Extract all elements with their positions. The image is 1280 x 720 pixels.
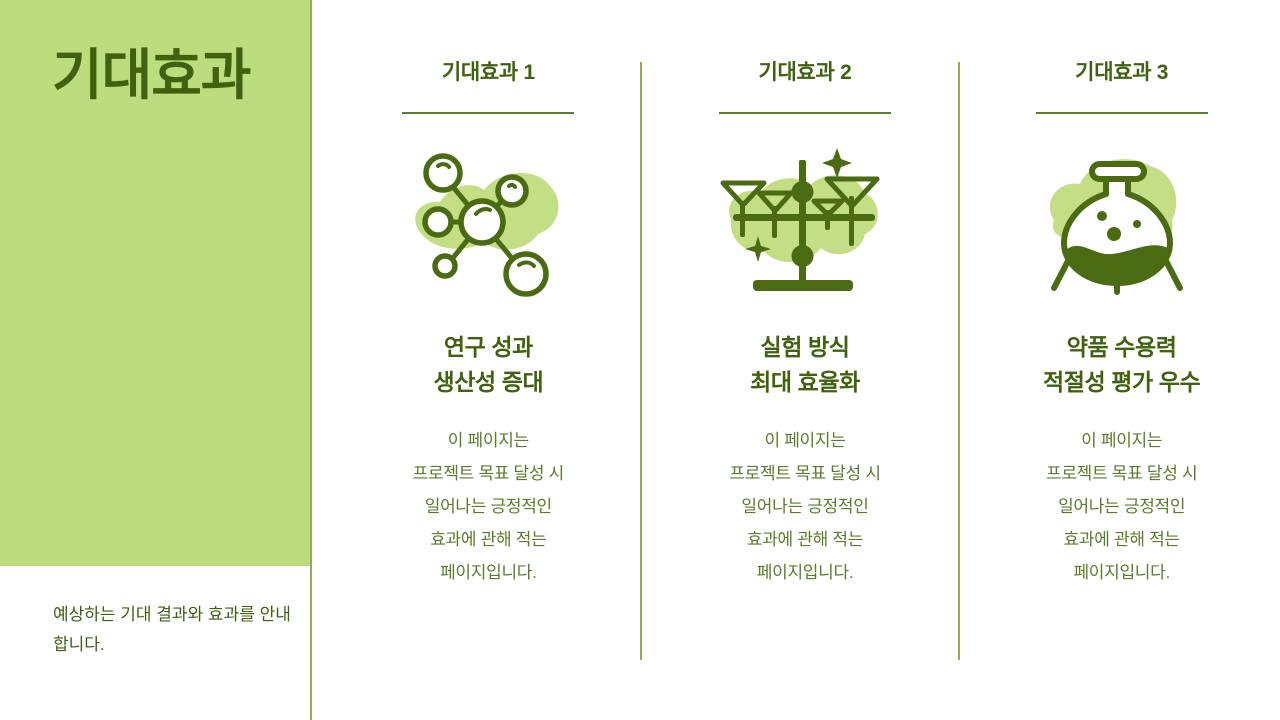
column-1-body: 이 페이지는 프로젝트 목표 달성 시 일어나는 긍정적인 효과에 관해 적는 … xyxy=(413,424,564,590)
column-2-heading: 실험 방식 최대 효율화 xyxy=(750,330,860,400)
column-3-rule xyxy=(1036,112,1208,114)
column-1-header: 기대효과 1 xyxy=(442,62,535,83)
column-1-rule xyxy=(402,112,574,114)
column-3-body: 이 페이지는 프로젝트 목표 달성 시 일어나는 긍정적인 효과에 관해 적는 … xyxy=(1046,424,1197,590)
column-1: 기대효과 1 xyxy=(330,0,647,720)
column-2-rule xyxy=(719,112,891,114)
column-3-header: 기대효과 3 xyxy=(1075,62,1168,83)
molecule-network-icon xyxy=(398,142,578,302)
flask-tripod-icon xyxy=(1032,142,1212,302)
column-2-header: 기대효과 2 xyxy=(759,62,852,83)
funnel-stand-icon xyxy=(715,142,895,302)
columns-container: 기대효과 1 xyxy=(330,0,1280,720)
column-3: 기대효과 3 xyxy=(963,0,1280,720)
column-2-body: 이 페이지는 프로젝트 목표 달성 시 일어나는 긍정적인 효과에 관해 적는 … xyxy=(729,424,880,590)
sidebar-vertical-divider xyxy=(310,0,312,720)
column-2: 기대효과 2 xyxy=(647,0,964,720)
slide-root: 기대효과 예상하는 기대 결과와 효과를 안내합니다. 기대효과 1 xyxy=(0,0,1280,720)
sidebar-caption: 예상하는 기대 결과와 효과를 안내합니다. xyxy=(53,600,303,660)
column-1-heading: 연구 성과 생산성 증대 xyxy=(433,330,543,400)
page-title: 기대효과 xyxy=(52,44,250,107)
column-3-heading: 약품 수용력 적절성 평가 우수 xyxy=(1043,330,1200,400)
